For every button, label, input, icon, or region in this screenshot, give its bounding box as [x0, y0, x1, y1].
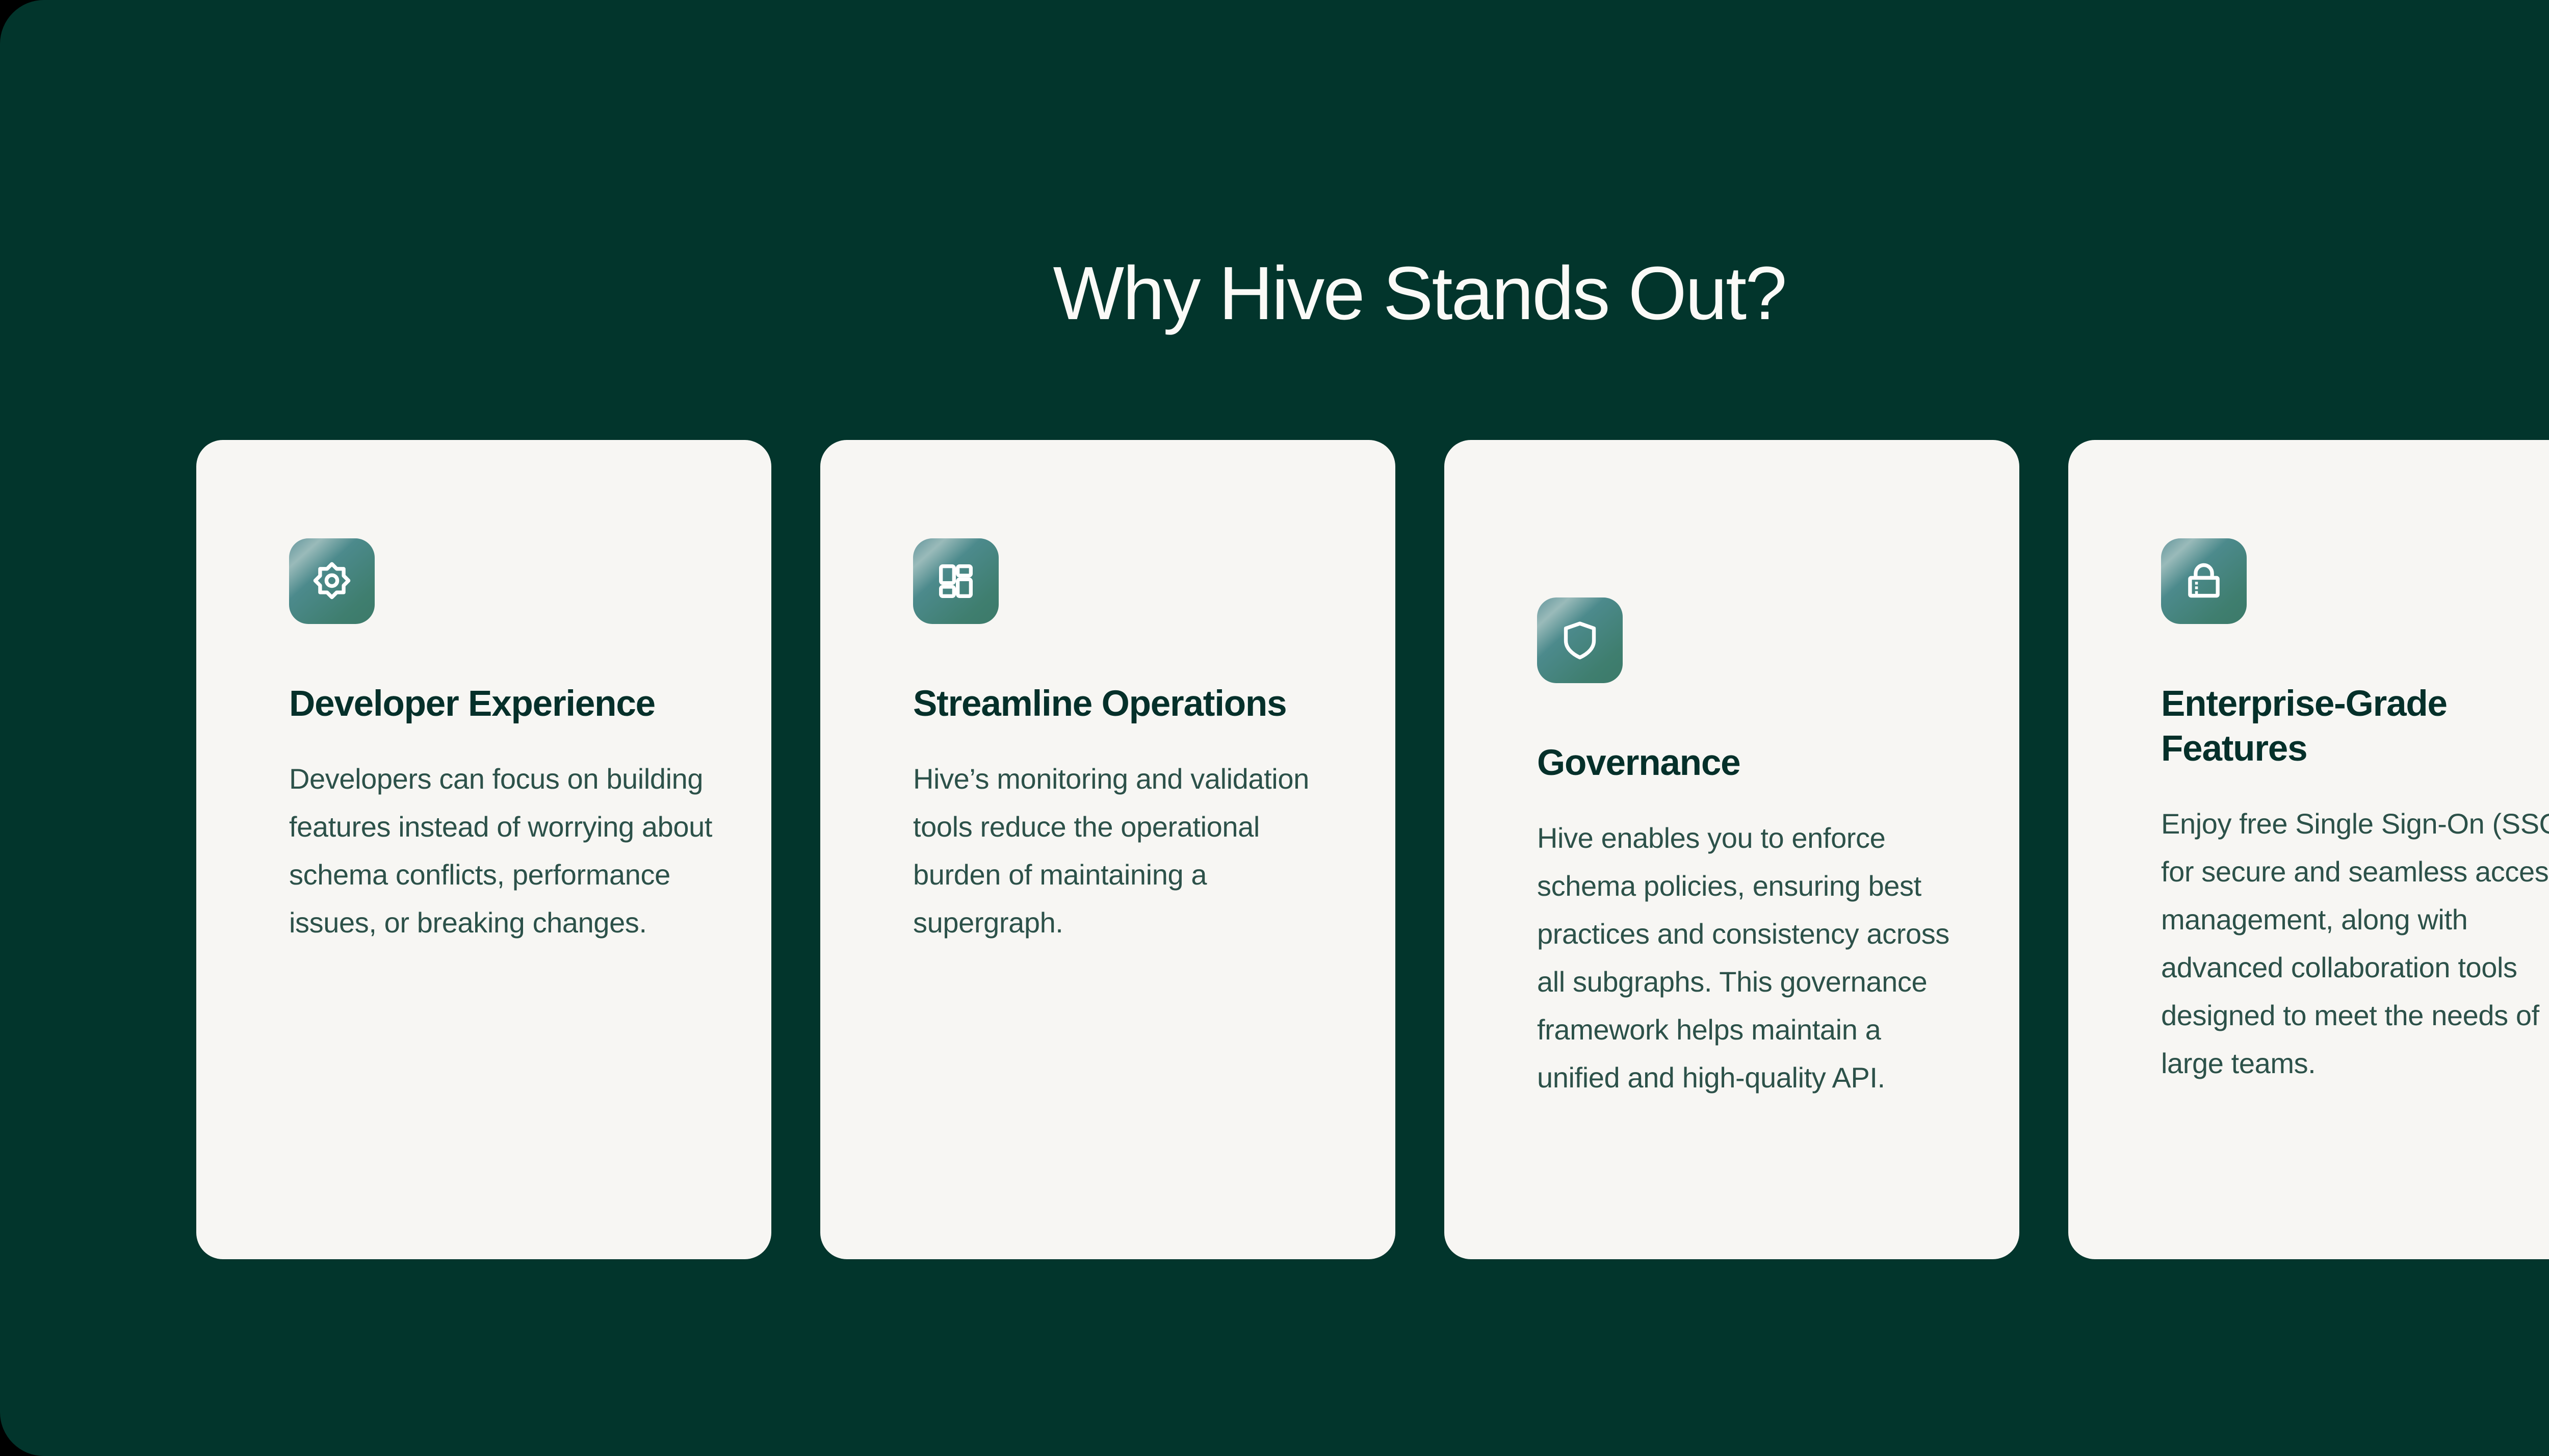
feature-card[interactable]: Governance Hive enables you to enforce s…: [1444, 440, 2019, 1259]
shield-icon: [1537, 597, 1623, 683]
feature-card-body: Enjoy free Single Sign-On (SSO) for secu…: [2161, 800, 2549, 1087]
feature-card-grid: Developer Experience Developers can focu…: [196, 440, 2549, 1259]
feature-card-body: Hive’s monitoring and validation tools r…: [913, 755, 1337, 947]
features-section: Why Hive Stands Out? Developer Experienc…: [0, 0, 2549, 1456]
lock-icon: [2161, 538, 2247, 624]
feature-card-title: Governance: [1537, 741, 1955, 786]
feature-card-body: Hive enables you to enforce schema polic…: [1537, 814, 1961, 1102]
feature-card-body: Developers can focus on building feature…: [289, 755, 713, 947]
feature-card-title: Enterprise-Grade Features: [2161, 682, 2549, 771]
feature-card-title: Developer Experience: [289, 682, 707, 726]
feature-card-title: Streamline Operations: [913, 682, 1331, 726]
feature-card[interactable]: Enterprise-Grade Features Enjoy free Sin…: [2068, 440, 2549, 1259]
settings-star-icon: [289, 538, 375, 624]
feature-card[interactable]: Streamline Operations Hive’s monitoring …: [820, 440, 1395, 1259]
page-title: Why Hive Stands Out?: [0, 251, 2549, 336]
feature-card[interactable]: Developer Experience Developers can focu…: [196, 440, 771, 1259]
layout-dashboard-icon: [913, 538, 999, 624]
